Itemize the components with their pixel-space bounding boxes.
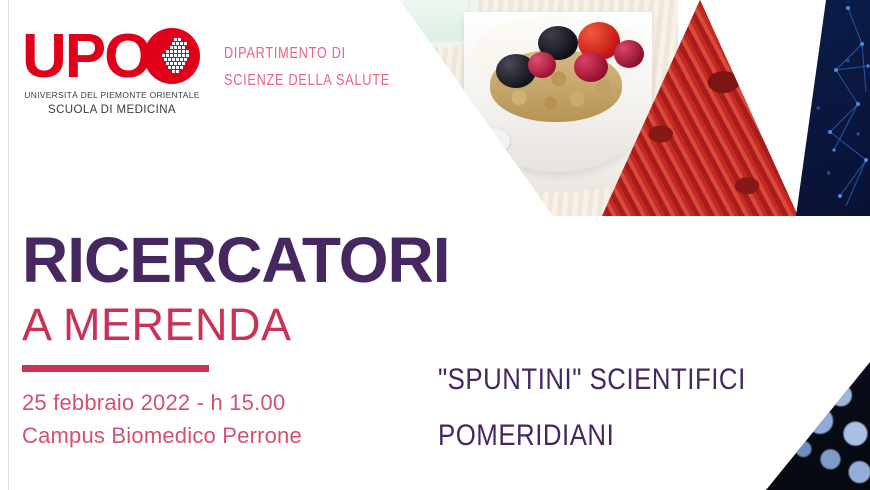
photo-collage (378, 0, 870, 216)
left-edge-divider (8, 0, 9, 490)
yogurt-glass (386, 0, 470, 42)
page-title: RICERCATORI (22, 228, 450, 292)
department-line-1: DIPARTIMENTO DI (224, 40, 390, 67)
molecular-network-photo (796, 0, 870, 216)
piemonte-map-circle-icon (144, 28, 200, 84)
tagline-line-1: "SPUNTINI" SCIENTIFICI (438, 352, 746, 408)
raspberry (574, 52, 608, 82)
upo-logo-block: UPO (22, 26, 202, 116)
event-date-time: 25 febbraio 2022 - h 15.00 (22, 386, 450, 419)
tagline-line-2: POMERIDIANI (438, 408, 746, 464)
event-details: 25 febbraio 2022 - h 15.00 Campus Biomed… (22, 386, 450, 452)
raspberry (528, 52, 556, 78)
department-line-2: SCIENZE DELLA SALUTE (224, 67, 390, 94)
tagline-block: "SPUNTINI" SCIENTIFICI POMERIDIANI (438, 352, 746, 464)
school-name: SCUOLA DI MEDICINA (22, 104, 202, 116)
department-block: DIPARTIMENTO DI SCIENZE DELLA SALUTE (224, 40, 390, 94)
spoon (474, 128, 510, 154)
event-venue: Campus Biomedico Perrone (22, 419, 450, 452)
page-subtitle: A MERENDA (22, 302, 450, 348)
logo-mark: UPO (22, 26, 202, 86)
blue-cells-microscopy-photo (766, 362, 870, 490)
logo-wordmark: UPO (22, 28, 150, 86)
event-poster: UPO (0, 0, 870, 490)
university-name: UNIVERSITÀ DEL PIEMONTE ORIENTALE (22, 90, 202, 100)
headline-block: RICERCATORI A MERENDA 25 febbraio 2022 -… (22, 228, 450, 452)
accent-rule (22, 365, 209, 372)
raspberry (614, 40, 644, 68)
